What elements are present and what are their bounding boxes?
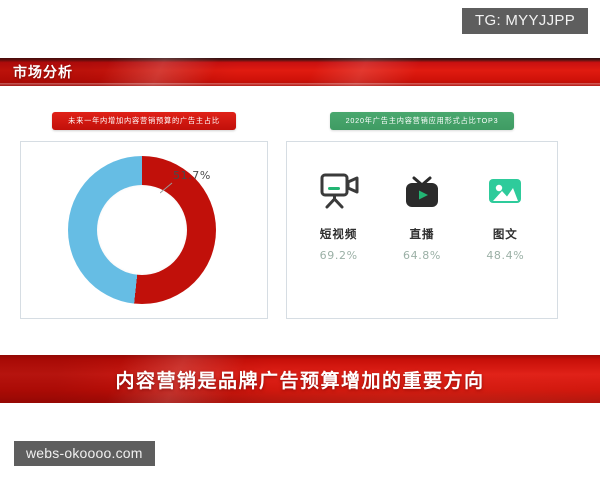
video-camera-icon-svg	[317, 171, 361, 211]
image-photo-icon	[469, 168, 541, 214]
right-column: 2020年广告主内容营销应用形式占比TOP3	[286, 92, 558, 319]
tv-play-icon-svg	[401, 171, 443, 211]
donut-chart-panel: 51.7%	[20, 141, 268, 319]
top3-formats-panel: 短视频 69.2% 直播 64.8%	[286, 141, 558, 319]
footer-headline: 内容营销是品牌广告预算增加的重要方向	[115, 366, 484, 393]
main-content: 未来一年内增加内容营销预算的广告主占比 51.7% 2020年广告主内容营销应用…	[0, 92, 600, 342]
video-camera-icon	[303, 168, 375, 214]
format-value: 69.2%	[303, 249, 375, 262]
format-item-image-text: 图文 48.4%	[469, 168, 541, 262]
left-column: 未来一年内增加内容营销预算的广告主占比 51.7%	[20, 92, 268, 319]
section-header-banner: 市场分析	[0, 58, 600, 86]
donut-value-label: 51.7%	[173, 169, 211, 182]
format-icon-row: 短视频 69.2% 直播 64.8%	[287, 168, 557, 262]
format-name: 短视频	[303, 226, 375, 242]
page-title: 市场分析	[13, 62, 73, 82]
format-item-short-video: 短视频 69.2%	[303, 168, 375, 262]
format-item-live: 直播 64.8%	[386, 168, 458, 262]
donut-leader-line	[160, 182, 173, 194]
format-name: 直播	[386, 226, 458, 242]
donut-chart: 51.7%	[21, 142, 267, 318]
format-value: 48.4%	[469, 249, 541, 262]
slide-root: TG: MYYJJPP 市场分析 未来一年内增加内容营销预算的广告主占比 51.…	[0, 0, 600, 480]
format-name: 图文	[469, 226, 541, 242]
telegram-watermark: TG: MYYJJPP	[462, 8, 588, 34]
left-panel-pill-label: 未来一年内增加内容营销预算的广告主占比	[52, 112, 236, 130]
tv-play-icon	[386, 168, 458, 214]
image-photo-icon-svg	[484, 171, 526, 211]
format-value: 64.8%	[386, 249, 458, 262]
footer-banner: 内容营销是品牌广告预算增加的重要方向	[0, 355, 600, 403]
site-watermark: webs-okoooo.com	[14, 441, 155, 466]
right-panel-pill-label: 2020年广告主内容营销应用形式占比TOP3	[330, 112, 515, 130]
